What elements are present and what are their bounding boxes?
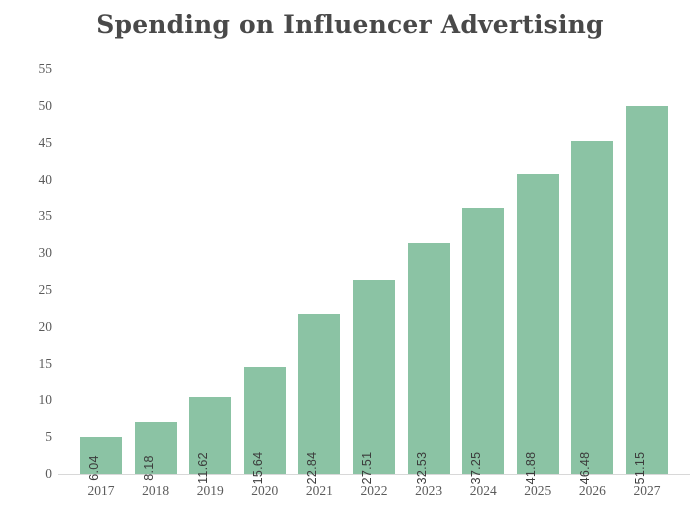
- bar-rect[interactable]: [298, 314, 340, 474]
- bar-value-label: 6.04: [87, 455, 101, 481]
- bar-group[interactable]: 37.25: [462, 208, 504, 474]
- bar-group[interactable]: 8.18: [135, 422, 177, 474]
- bar-group[interactable]: 46.48: [571, 141, 613, 474]
- bar-rect[interactable]: [626, 106, 668, 474]
- x-axis-tick-label: 2024: [453, 483, 513, 499]
- bar-rect[interactable]: [517, 174, 559, 474]
- bar-group[interactable]: 51.15: [626, 106, 668, 474]
- x-axis-tick-label: 2021: [289, 483, 349, 499]
- bar-rect[interactable]: [571, 141, 613, 474]
- bar-group[interactable]: 15.64: [244, 367, 286, 474]
- bar-group[interactable]: 11.62: [189, 397, 231, 474]
- x-axis-tick-label: 2027: [617, 483, 677, 499]
- x-axis-tick-label: 2026: [562, 483, 622, 499]
- bar-value-label: 11.62: [196, 452, 210, 484]
- bar-value-label: 51.15: [633, 452, 647, 485]
- bar-group[interactable]: 32.53: [408, 243, 450, 474]
- bar-value-label: 15.64: [251, 452, 265, 485]
- bar-rect[interactable]: [353, 280, 395, 474]
- bars-layer: 6.0420178.18201811.62201915.64202022.842…: [0, 0, 700, 519]
- bar-rect[interactable]: [462, 208, 504, 474]
- bar-chart: Spending on Influencer Advertising 55504…: [0, 0, 700, 519]
- x-axis-tick-label: 2022: [344, 483, 404, 499]
- x-axis-tick-label: 2019: [180, 483, 240, 499]
- bar-group[interactable]: 27.51: [353, 280, 395, 474]
- x-axis-tick-label: 2020: [235, 483, 295, 499]
- bar-value-label: 22.84: [305, 452, 319, 485]
- x-axis-tick-label: 2017: [71, 483, 131, 499]
- bar-group[interactable]: 22.84: [298, 314, 340, 474]
- x-axis-tick-label: 2018: [126, 483, 186, 499]
- bar-group[interactable]: 41.88: [517, 174, 559, 474]
- bar-value-label: 32.53: [415, 452, 429, 485]
- bar-value-label: 37.25: [469, 452, 483, 485]
- x-axis-tick-label: 2023: [399, 483, 459, 499]
- x-axis-tick-label: 2025: [508, 483, 568, 499]
- bar-rect[interactable]: [408, 243, 450, 474]
- bar-group[interactable]: 6.04: [80, 437, 122, 474]
- bar-value-label: 8.18: [142, 455, 156, 481]
- bar-value-label: 27.51: [360, 452, 374, 485]
- bar-value-label: 41.88: [524, 452, 538, 485]
- bar-value-label: 46.48: [578, 452, 592, 485]
